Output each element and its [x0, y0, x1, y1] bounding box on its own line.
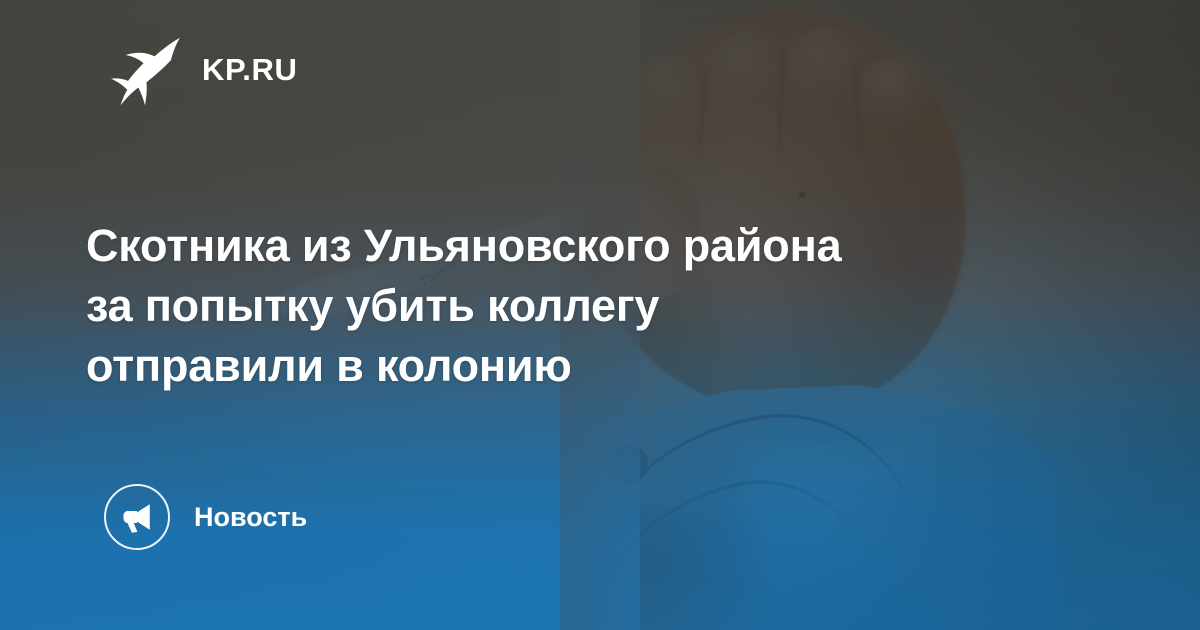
- content-type-badge[interactable]: Новость: [104, 484, 307, 550]
- news-share-card: Thomas: [0, 0, 1200, 630]
- brand-name: KP.RU: [202, 54, 297, 85]
- headline-line-1: Скотника из Ульяновского района: [86, 216, 1096, 276]
- badge-label: Новость: [194, 504, 307, 531]
- headline-line-2: за попытку убить коллегу: [86, 276, 1096, 336]
- headline: Скотника из Ульяновского района за попыт…: [86, 216, 1096, 396]
- megaphone-icon: [120, 500, 154, 534]
- badge-icon-circle: [104, 484, 170, 550]
- headline-line-3: отправили в колонию: [86, 336, 1096, 396]
- swallow-bird-icon: [108, 32, 182, 106]
- brand-logo-group[interactable]: KP.RU: [108, 32, 297, 106]
- card-content: KP.RU Скотника из Ульяновского района за…: [0, 0, 1200, 630]
